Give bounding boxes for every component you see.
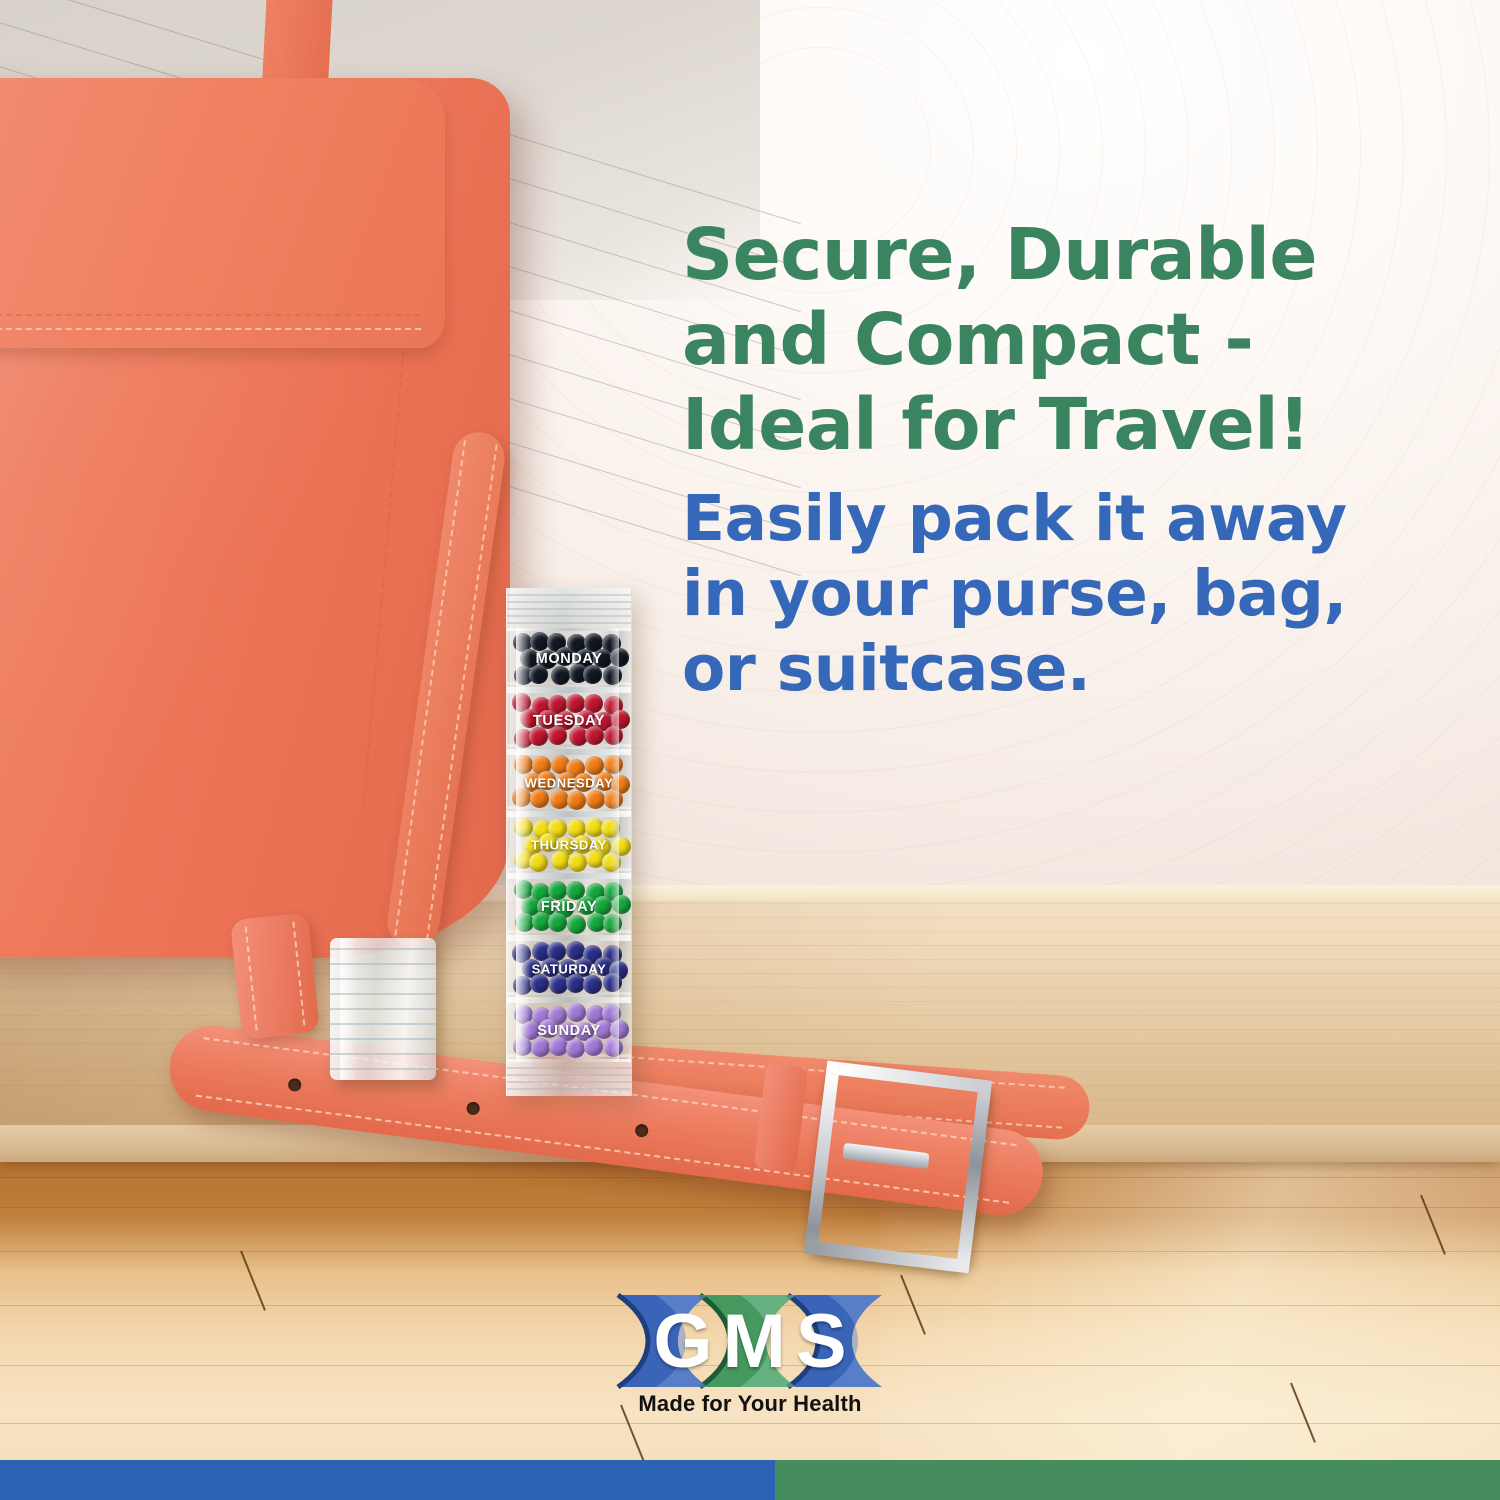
headline-line-1: Secure, Durable xyxy=(682,212,1442,297)
product-marketing-image: MONDAYTUESDAYWEDNESDAYTHURSDAYFRIDAYSATU… xyxy=(0,0,1500,1500)
logo-tagline: Made for Your Health xyxy=(600,1391,900,1417)
belt-buckle xyxy=(804,1061,992,1274)
pill-container-friday: FRIDAY xyxy=(506,876,632,938)
subhead-line-1: Easily pack it away xyxy=(682,481,1442,556)
pill-container-monday: MONDAY xyxy=(506,628,632,690)
brand-logo: G M S Made for Your Health xyxy=(600,1293,900,1433)
purse-flap-stitching xyxy=(0,328,421,330)
stack-top-cap xyxy=(506,588,632,628)
headline-line-2: and Compact - xyxy=(682,297,1442,382)
footer-bar xyxy=(0,1460,1500,1500)
pill-container-saturday: SATURDAY xyxy=(506,938,632,1000)
pill-container-wednesday: WEDNESDAY xyxy=(506,752,632,814)
pill-container-thursday: THURSDAY xyxy=(506,814,632,876)
copy-block: Secure, Durable and Compact - Ideal for … xyxy=(682,212,1442,706)
purse-flap xyxy=(0,78,445,348)
logo-letter-m: M xyxy=(723,1298,786,1385)
pill-organizer-stack: MONDAYTUESDAYWEDNESDAYTHURSDAYFRIDAYSATU… xyxy=(506,588,632,1066)
subhead-line-3: or suitcase. xyxy=(682,631,1442,706)
headline-line-3: Ideal for Travel! xyxy=(682,382,1442,467)
page-title: Secure, Durable and Compact - Ideal for … xyxy=(682,212,1442,467)
logo-letters: G M S xyxy=(600,1293,900,1389)
strap-keeper-loop xyxy=(230,912,320,1039)
stack-base xyxy=(506,1062,632,1096)
keeper-stitching xyxy=(245,922,306,1031)
logo-letter-g: G xyxy=(653,1298,712,1385)
logo-mark: G M S xyxy=(600,1293,900,1389)
footer-bar-right xyxy=(775,1460,1500,1500)
subhead-line-2: in your purse, bag, xyxy=(682,556,1442,631)
pill-container-sunday: SUNDAY xyxy=(506,1000,632,1062)
page-subtitle: Easily pack it away in your purse, bag, … xyxy=(682,481,1442,706)
spare-container-lid xyxy=(330,938,436,1080)
purse-flap-stitching-inner xyxy=(0,314,421,316)
pill-container-tuesday: TUESDAY xyxy=(506,690,632,752)
logo-letter-s: S xyxy=(796,1298,847,1385)
footer-bar-left xyxy=(0,1460,775,1500)
